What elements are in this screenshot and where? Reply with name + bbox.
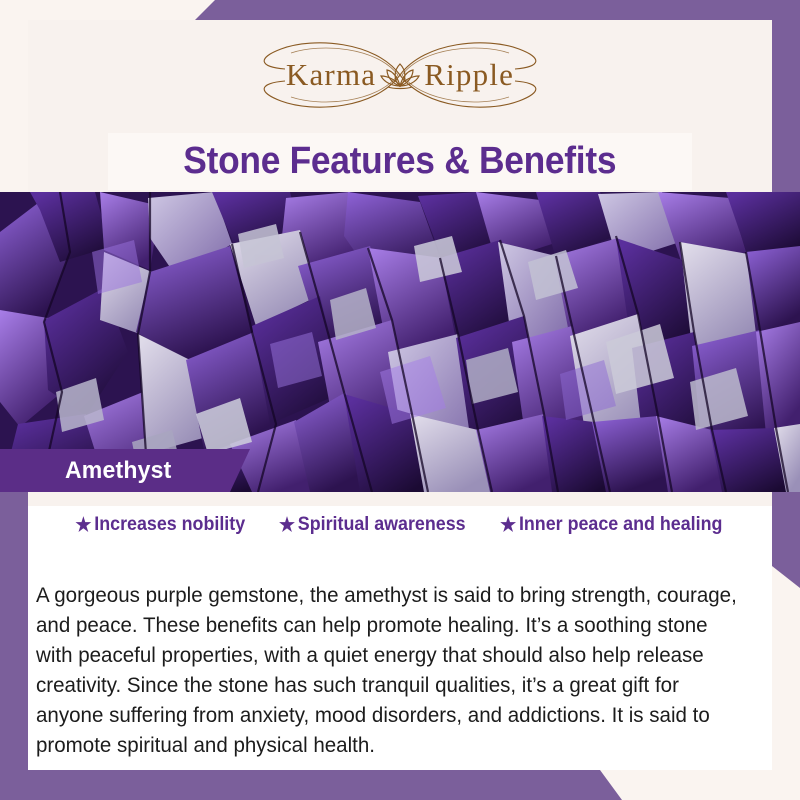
page-title-band: Stone Features & Benefits [108,133,692,190]
feature-label-2: Spiritual awareness [298,514,466,536]
brand-logo: Karma Ripple [235,33,565,117]
star-icon: ★ [279,516,295,535]
feature-item-1: ★ Increases nobility [76,514,246,536]
content-top-strip [28,492,772,506]
stone-description: A gorgeous purple gemstone, the amethyst… [36,580,743,760]
lotus-icon [380,58,420,92]
amethyst-photo [0,192,800,492]
page-title: Stone Features & Benefits [184,140,617,183]
feature-label-3: Inner peace and healing [519,514,722,536]
brand-name-left: Karma [286,57,376,93]
amethyst-crystal-illustration [0,192,800,492]
brand-header: Karma Ripple [28,20,772,130]
brand-name-right: Ripple [424,57,514,93]
feature-list: ★ Increases nobility ★ Spiritual awarene… [28,514,772,536]
star-icon: ★ [500,516,516,535]
frame-accent-left [0,492,28,780]
feature-label-1: Increases nobility [94,514,245,536]
stone-name-banner: Amethyst [0,449,250,492]
stone-name-label: Amethyst [3,457,171,485]
frame-accent-top [0,0,800,20]
feature-item-2: ★ Spiritual awareness [279,514,466,536]
frame-accent-bottom [0,770,630,800]
feature-item-3: ★ Inner peace and healing [500,514,722,536]
infographic-page: Karma Ripple [0,0,800,800]
brand-logo-text: Karma Ripple [286,57,514,93]
star-icon: ★ [76,516,92,535]
